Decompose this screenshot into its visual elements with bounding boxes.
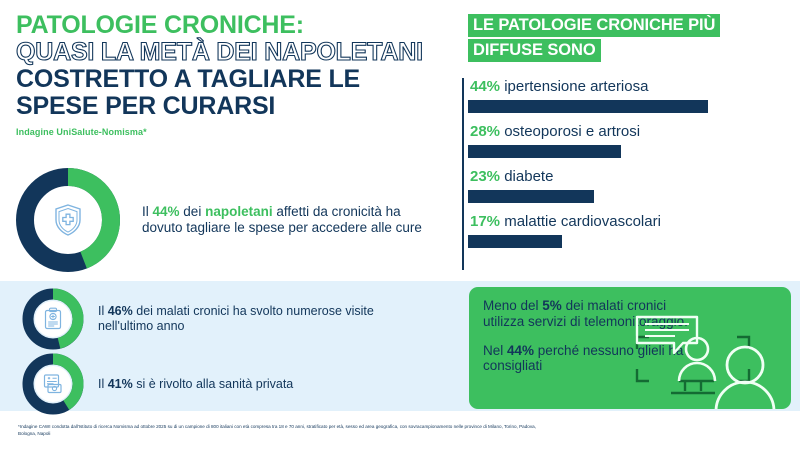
bar-group-1: 28% osteoporosi e artrosi (468, 123, 640, 158)
h41-pre: Il (98, 377, 108, 391)
headline-line-1: PATOLOGIE CRONICHE: (16, 12, 466, 39)
bar-value-0: 44% (470, 78, 500, 95)
donut-chart-46 (22, 288, 84, 350)
bar-category-3: malattie cardiovascolari (504, 213, 661, 230)
chart-y-axis (462, 78, 464, 270)
bar-value-1: 28% (470, 123, 500, 140)
highlight-row-44: Il 44% dei napoletani affetti da cronici… (16, 168, 442, 272)
donut-44-center (39, 191, 97, 249)
headline-line-3: COSTRETTO A TAGLIARE LE (16, 66, 466, 93)
highlight-row-41: Il 41% si è rivolto alla sanità privata (22, 353, 418, 415)
headline-line-4: SPESE PER CURARSI (16, 93, 466, 120)
right-title-line-1: LE PATOLOGIE CRONICHE PIÙ (468, 14, 720, 37)
bar-label-3: 17% malattie cardiovascolari (468, 213, 661, 230)
clipboard-medical-icon (40, 306, 66, 332)
bar-category-0: ipertensione arteriosa (504, 78, 648, 95)
headline-line-2: QUASI LA METÀ DEI NAPOLETANI (16, 39, 466, 66)
bar-label-1: 28% osteoporosi e artrosi (468, 123, 640, 140)
telemonitoring-card: Meno del 5% dei malati cronici utilizza … (469, 287, 791, 409)
bar-1 (468, 145, 621, 158)
bar-value-2: 23% (470, 168, 500, 185)
donut-chart-44 (16, 168, 120, 272)
bar-group-0: 44% ipertensione arteriosa (468, 78, 708, 113)
bar-value-3: 17% (470, 213, 500, 230)
headline-source: Indagine UniSalute-Nomisma* (16, 127, 466, 137)
card-p2-percent: 44% (507, 343, 534, 358)
bar-group-3: 17% malattie cardiovascolari (468, 213, 661, 248)
bar-label-2: 23% diabete (468, 168, 594, 185)
bar-2 (468, 190, 594, 203)
section-divider (0, 279, 800, 281)
donut-46-center (35, 301, 71, 337)
right-title-line-2: DIFFUSE SONO (468, 39, 601, 62)
h44-mid: dei (180, 204, 206, 219)
card-p1-percent: 5% (542, 298, 562, 313)
highlight-44-text: Il 44% dei napoletani affetti da cronici… (142, 204, 442, 236)
infographic-root: PATOLOGIE CRONICHE: QUASI LA METÀ DEI NA… (0, 0, 800, 450)
chronic-diseases-bar-chart: 44% ipertensione arteriosa 28% osteoporo… (462, 78, 796, 270)
bar-0 (468, 100, 708, 113)
telemedicine-monitor-icon (619, 309, 789, 409)
donut-41-center (35, 366, 71, 402)
footnote: *Indagine CAWI condotta dall'Istituto di… (18, 424, 538, 438)
h46-post: dei malati cronici ha svolto numerose vi… (98, 304, 374, 333)
shield-cross-icon (48, 200, 88, 240)
bar-category-2: diabete (504, 168, 553, 185)
h44-percent: 44% (153, 204, 180, 219)
highlight-46-text: Il 46% dei malati cronici ha svolto nume… (98, 304, 418, 334)
bar-group-2: 23% diabete (468, 168, 594, 203)
donut-chart-41 (22, 353, 84, 415)
h46-pre: Il (98, 304, 108, 318)
card-p2-pre: Nel (483, 343, 507, 358)
highlight-row-46: Il 46% dei malati cronici ha svolto nume… (22, 288, 418, 350)
bar-label-0: 44% ipertensione arteriosa (468, 78, 708, 95)
bar-3 (468, 235, 562, 248)
highlight-41-text: Il 41% si è rivolto alla sanità privata (98, 377, 418, 392)
h41-post: si è rivolto alla sanità privata (133, 377, 294, 391)
h46-percent: 46% (108, 304, 133, 318)
h44-pre: Il (142, 204, 153, 219)
medical-bill-icon (40, 371, 66, 397)
bar-category-1: osteoporosi e artrosi (504, 123, 640, 140)
h41-percent: 41% (108, 377, 133, 391)
right-panel-title: LE PATOLOGIE CRONICHE PIÙ DIFFUSE SONO (468, 14, 798, 64)
h44-keyword: napoletani (205, 204, 273, 219)
headline-block: PATOLOGIE CRONICHE: QUASI LA METÀ DEI NA… (16, 12, 466, 137)
card-p1-pre: Meno del (483, 298, 542, 313)
